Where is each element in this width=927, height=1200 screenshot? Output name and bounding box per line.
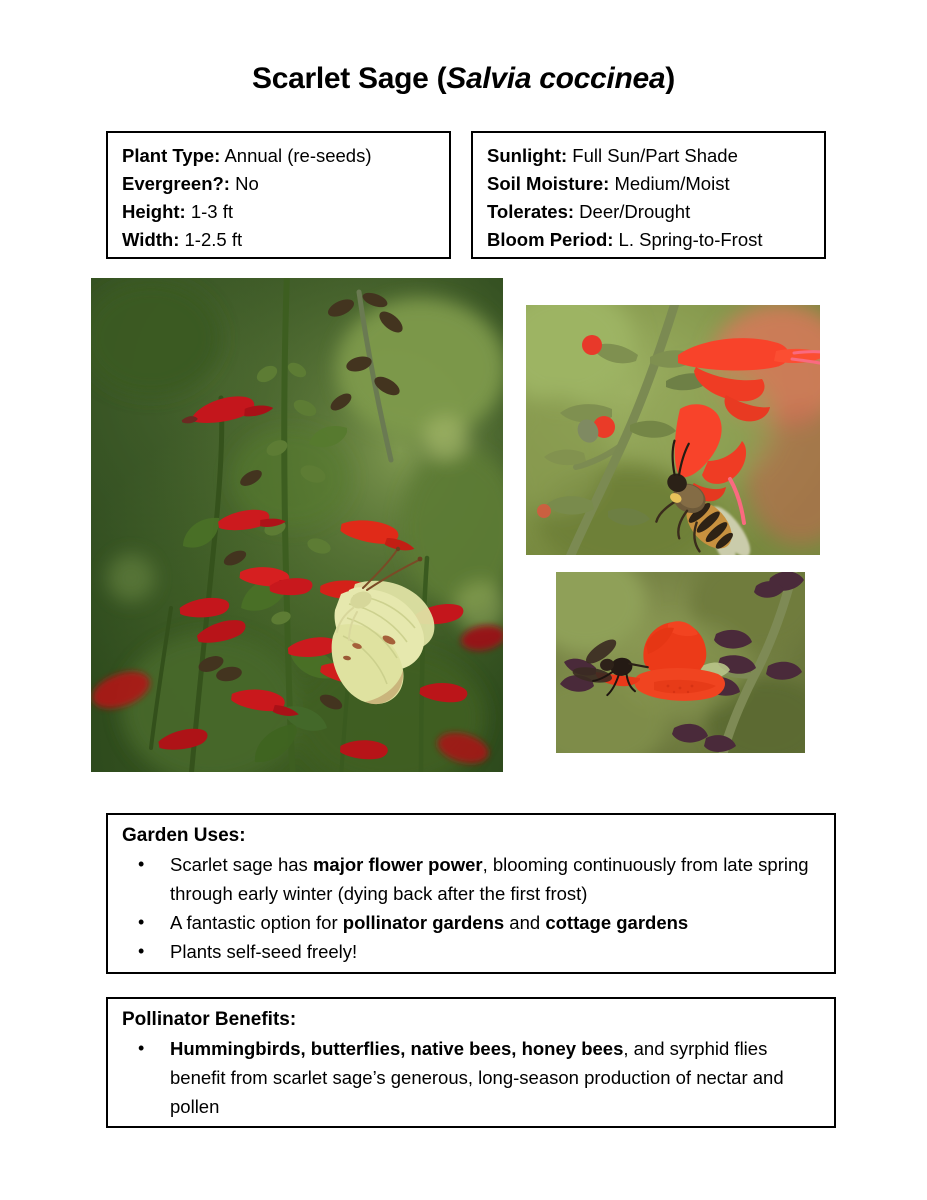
garden-uses-list: • Scarlet sage has major flower power, b… bbox=[122, 850, 818, 966]
fact-row-evergreen: Evergreen?: No bbox=[122, 170, 449, 198]
pollinator-benefits-heading: Pollinator Benefits: bbox=[122, 1007, 818, 1033]
garden-uses-heading: Garden Uses: bbox=[122, 823, 818, 849]
bullet-icon: • bbox=[138, 1034, 144, 1063]
page-title-common: Scarlet Sage ( bbox=[252, 62, 446, 95]
list-item: • Scarlet sage has major flower power, b… bbox=[122, 850, 818, 908]
bullet-icon: • bbox=[138, 908, 144, 937]
list-item-text: Plants self-seed freely! bbox=[170, 941, 357, 962]
fact-value: L. Spring-to-Frost bbox=[613, 229, 762, 250]
photo-scarlet-sage-with-butterfly bbox=[91, 278, 503, 772]
list-item-text: Hummingbirds, butterflies, native bees, … bbox=[170, 1038, 784, 1117]
pollinator-benefits-list: • Hummingbirds, butterflies, native bees… bbox=[122, 1034, 818, 1121]
page-title-scientific: Salvia coccinea bbox=[446, 62, 665, 95]
fact-label: Height: bbox=[122, 201, 186, 222]
list-item: • Hummingbirds, butterflies, native bees… bbox=[122, 1034, 818, 1121]
page-title: Scarlet Sage (Salvia coccinea) bbox=[0, 62, 927, 96]
fact-value: 1-2.5 ft bbox=[179, 229, 242, 250]
fact-row-bloom-period: Bloom Period: L. Spring-to-Frost bbox=[487, 226, 824, 254]
fact-value: Full Sun/Part Shade bbox=[567, 145, 738, 166]
garden-uses-box: Garden Uses: • Scarlet sage has major fl… bbox=[106, 813, 836, 974]
fact-row-soil-moisture: Soil Moisture: Medium/Moist bbox=[487, 170, 824, 198]
photo-scarlet-sage-closeup bbox=[556, 572, 805, 753]
bullet-icon: • bbox=[138, 850, 144, 879]
fact-label: Tolerates: bbox=[487, 201, 574, 222]
photo-honey-bee-on-flower bbox=[526, 305, 820, 555]
fact-value: Medium/Moist bbox=[609, 173, 729, 194]
fact-row-sunlight: Sunlight: Full Sun/Part Shade bbox=[487, 142, 824, 170]
pollinator-benefits-box: Pollinator Benefits: • Hummingbirds, but… bbox=[106, 997, 836, 1128]
fact-row-plant-type: Plant Type: Annual (re-seeds) bbox=[122, 142, 449, 170]
fact-label: Soil Moisture: bbox=[487, 173, 609, 194]
fact-row-height: Height: 1-3 ft bbox=[122, 198, 449, 226]
fact-label: Sunlight: bbox=[487, 145, 567, 166]
fact-value: No bbox=[230, 173, 259, 194]
fact-label: Width: bbox=[122, 229, 179, 250]
fact-row-width: Width: 1-2.5 ft bbox=[122, 226, 449, 254]
page-title-close: ) bbox=[665, 62, 675, 95]
fact-value: 1-3 ft bbox=[186, 201, 233, 222]
fact-label: Bloom Period: bbox=[487, 229, 613, 250]
fact-row-tolerates: Tolerates: Deer/Drought bbox=[487, 198, 824, 226]
list-item: • A fantastic option for pollinator gard… bbox=[122, 908, 818, 937]
fact-value: Deer/Drought bbox=[574, 201, 690, 222]
list-item: • Plants self-seed freely! bbox=[122, 937, 818, 966]
fact-label: Evergreen?: bbox=[122, 173, 230, 194]
list-item-text: Scarlet sage has major flower power, blo… bbox=[170, 854, 809, 904]
bullet-icon: • bbox=[138, 937, 144, 966]
fact-value: Annual (re-seeds) bbox=[220, 145, 371, 166]
fact-box-left: Plant Type: Annual (re-seeds) Evergreen?… bbox=[106, 131, 451, 259]
list-item-text: A fantastic option for pollinator garden… bbox=[170, 912, 688, 933]
fact-label: Plant Type: bbox=[122, 145, 220, 166]
fact-box-right: Sunlight: Full Sun/Part Shade Soil Moist… bbox=[471, 131, 826, 259]
